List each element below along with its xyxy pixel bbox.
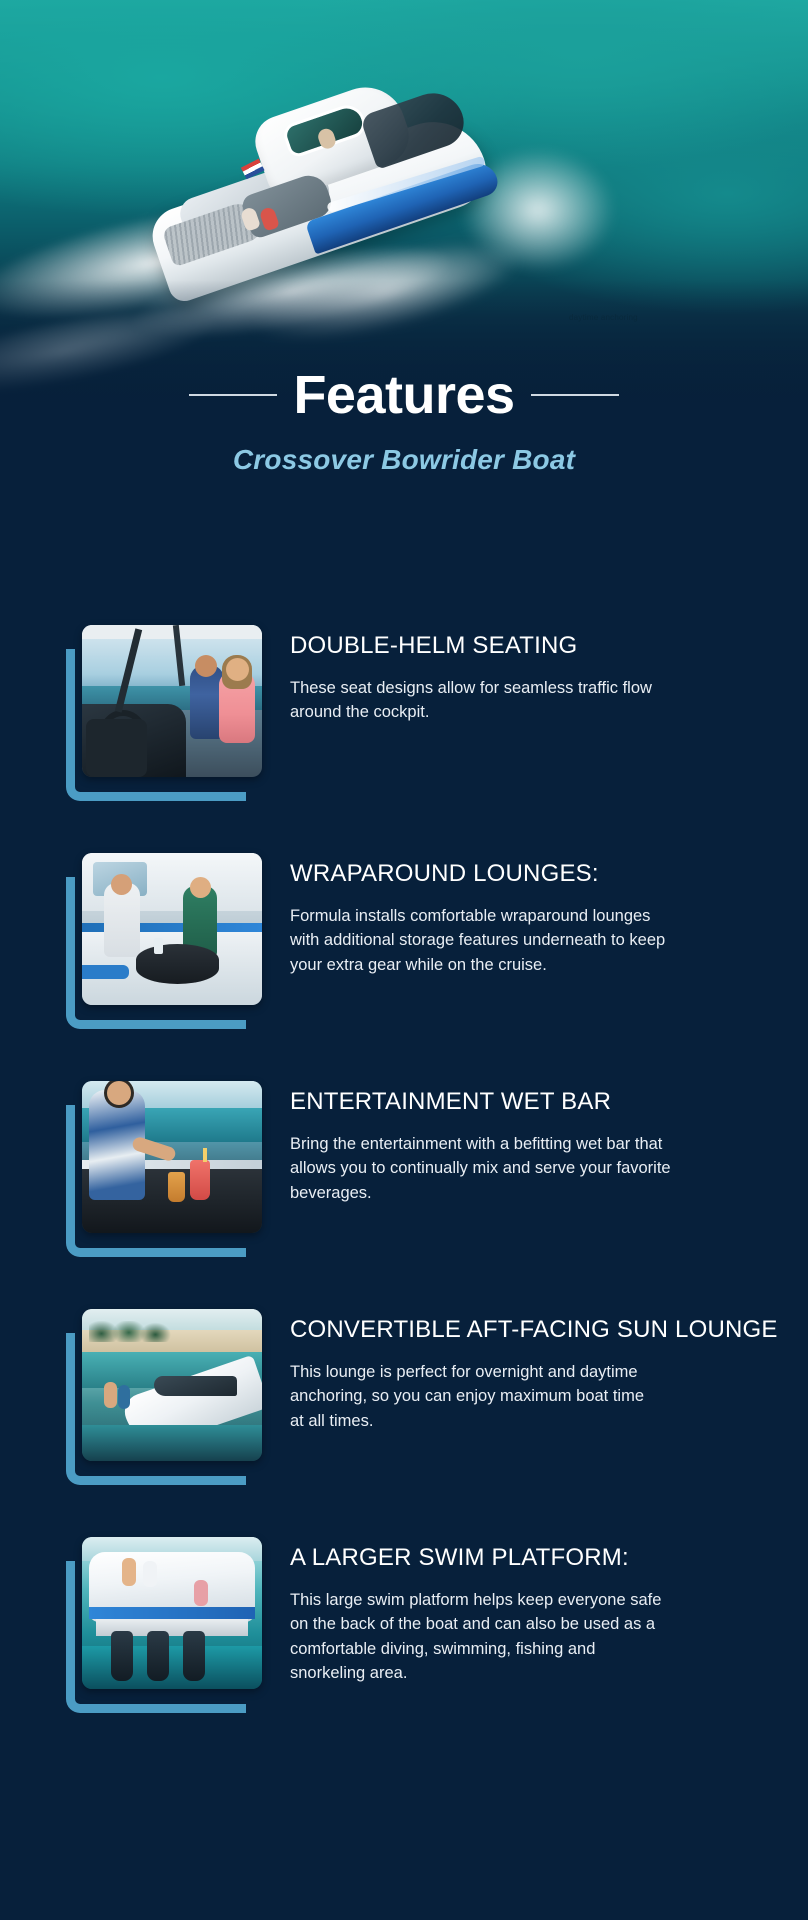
page-subtitle: Crossover Bowrider Boat: [0, 444, 808, 476]
feature-title: ENTERTAINMENT WET BAR: [290, 1087, 780, 1118]
features-list: DOUBLE-HELM SEATING These seat designs a…: [0, 625, 808, 1765]
feature-description: These seat designs allow for seamless tr…: [290, 676, 662, 725]
feature-item: CONVERTIBLE AFT-FACING SUN LOUNGE This l…: [0, 1309, 808, 1485]
feature-title: DOUBLE-HELM SEATING: [290, 631, 780, 662]
title-row: Features: [0, 368, 808, 422]
feature-image-larger-swim-platform: [82, 1537, 262, 1689]
feature-text: A LARGER SWIM PLATFORM: This large swim …: [290, 1537, 780, 1685]
page-title-block: Features Crossover Bowrider Boat: [0, 368, 808, 476]
title-rule-right: [531, 394, 619, 396]
feature-title: WRAPAROUND LOUNGES:: [290, 859, 780, 890]
feature-image-entertainment-wet-bar: [82, 1081, 262, 1233]
feature-image-double-helm-seating: [82, 625, 262, 777]
feature-image-wraparound-lounges: [82, 853, 262, 1005]
feature-thumbnail-wrap: [66, 1309, 262, 1485]
feature-title: A LARGER SWIM PLATFORM:: [290, 1543, 780, 1574]
page-title: Features: [293, 368, 514, 422]
feature-item: ENTERTAINMENT WET BAR Bring the entertai…: [0, 1081, 808, 1257]
feature-image-convertible-aft-facing-sun-lounge: [82, 1309, 262, 1461]
infographic-page: daytime anchoring Features Crossover Bow…: [0, 0, 808, 1920]
feature-description: This large swim platform helps keep ever…: [290, 1588, 672, 1686]
feature-thumbnail-wrap: [66, 625, 262, 801]
feature-text: CONVERTIBLE AFT-FACING SUN LOUNGE This l…: [290, 1309, 780, 1433]
feature-item: DOUBLE-HELM SEATING These seat designs a…: [0, 625, 808, 801]
feature-item: A LARGER SWIM PLATFORM: This large swim …: [0, 1537, 808, 1713]
feature-description: Formula installs comfortable wraparound …: [290, 904, 672, 977]
feature-item: WRAPAROUND LOUNGES: Formula installs com…: [0, 853, 808, 1029]
feature-thumbnail-wrap: [66, 853, 262, 1029]
feature-thumbnail-wrap: [66, 1537, 262, 1713]
feature-description: This lounge is perfect for overnight and…: [290, 1360, 662, 1433]
feature-text: DOUBLE-HELM SEATING These seat designs a…: [290, 625, 780, 725]
feature-title: CONVERTIBLE AFT-FACING SUN LOUNGE: [290, 1315, 780, 1346]
feature-thumbnail-wrap: [66, 1081, 262, 1257]
title-rule-left: [189, 394, 277, 396]
feature-text: WRAPAROUND LOUNGES: Formula installs com…: [290, 853, 780, 977]
feature-description: Bring the entertainment with a befitting…: [290, 1132, 672, 1205]
feature-text: ENTERTAINMENT WET BAR Bring the entertai…: [290, 1081, 780, 1205]
